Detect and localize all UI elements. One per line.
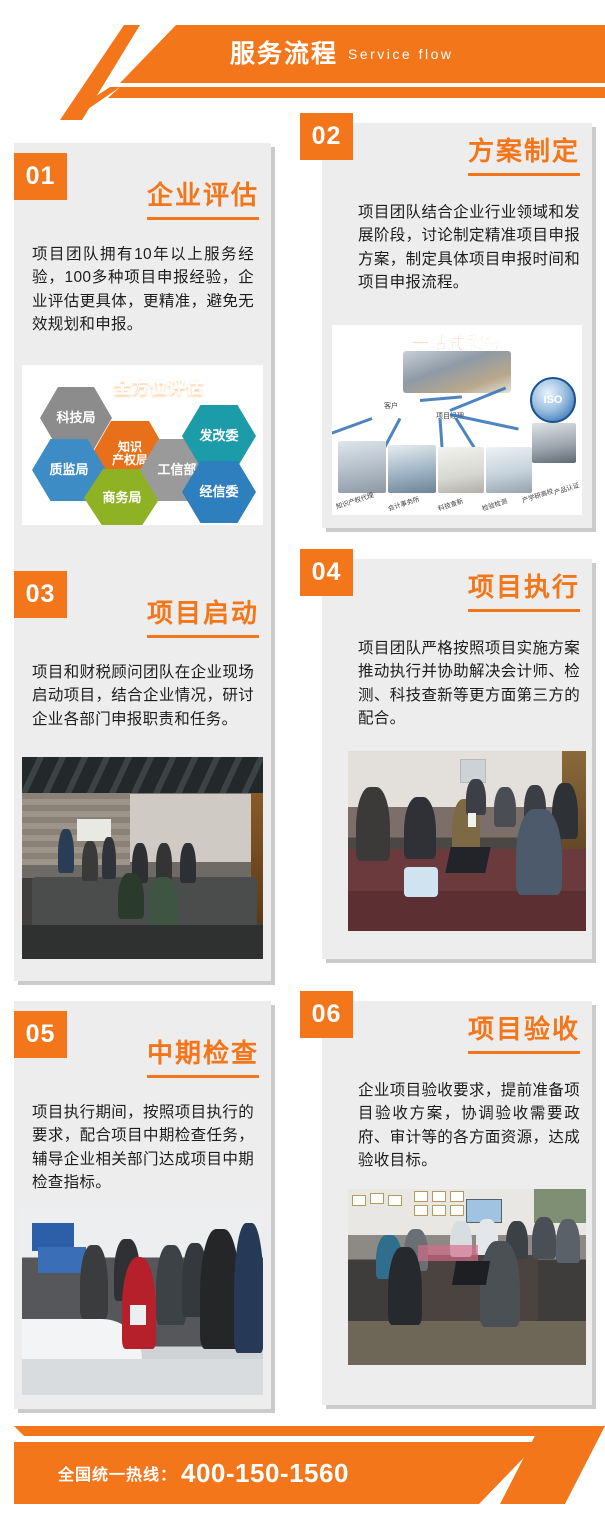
card-04-title: 项目执行 [468,567,580,612]
card-05-description: 项目执行期间，按照项目执行的要求，配合项目中期检查任务，辅导企业相关部门达成项目… [32,1101,254,1194]
thumb-accounting-firm [388,445,436,493]
thumb-inspection-testing [486,447,532,493]
thumb-tech-novelty-search [438,447,484,493]
card-03-number-badge: 03 [14,571,67,618]
arrow-hub-to-customer [420,395,462,402]
card-01-description: 项目团队拥有10年以上服务经验，100多种项目申报经验，企业评估更具体，更精准，… [32,243,254,336]
photo-05-detail-layer [22,1209,263,1395]
hotline-label: 全国统一热线： [58,1461,177,1485]
process-card-03[interactable]: 03 项目启动 项目和财税顾问团队在企业现场启动项目，结合企业情况，研讨企业各部… [14,561,279,986]
page-footer: 全国统一热线： 400-150-1560 [0,1410,605,1538]
header-banner-content: 服务流程 Service flow [120,25,605,83]
card-06-number-badge: 06 [300,991,353,1038]
hotline-phone-number[interactable]: 400-150-1560 [181,1458,349,1489]
service-label-5: 产品认证 [552,479,580,497]
process-card-04[interactable]: 04 项目执行 项目团队严格按照项目实施方案推动执行并协助解决会计师、检测、科技… [300,539,595,964]
process-card-05[interactable]: 05 中期检查 项目执行期间，按照项目执行的要求，配合项目中期检查任务，辅导企业… [14,1001,279,1413]
card-06-description: 企业项目验收要求，提前准备项目验收方案，协调验收需要政府、审计等的各方面资源，达… [358,1079,580,1172]
card-01-number-badge: 01 [14,153,67,200]
process-card-02[interactable]: 02 方案制定 项目团队结合企业行业领域和发展阶段，讨论制定精准项目申报方案，制… [300,103,595,528]
card-02-title: 方案制定 [468,131,580,176]
infographic-page: 服务流程 Service flow 01 企业评估 项目团队拥有10年以上服务经… [0,0,605,1538]
card-05-number-badge: 05 [14,1011,67,1058]
card-05-photo [22,1209,263,1395]
card-02-title-row: 方案制定 [322,131,580,176]
thumb-industry-university [532,423,576,463]
service-label-2: 科技查新 [436,495,464,513]
card-06-photo [348,1189,586,1365]
thumb-ip-agency [338,441,386,493]
card-04-title-row: 项目执行 [322,567,580,612]
page-title: 服务流程 [230,42,338,67]
node-customer-label: 客户 [384,401,398,411]
page-subtitle: Service flow [348,47,453,62]
card-06-title: 项目验收 [468,1009,580,1054]
footer-hotline[interactable]: 全国统一热线： 400-150-1560 [58,1442,349,1504]
card-01-title: 企业评估 [147,175,259,220]
process-card-grid: 01 企业评估 项目团队拥有10年以上服务经验，100多种项目申报经验，企业评估… [0,103,605,1413]
card-06-title-row: 项目验收 [322,1009,580,1054]
card-02-figure-one-stop-service: 一站式服务 客户 项目经理 ISO 知识产权代理 会计事务所 [332,325,582,515]
photo-06-detail-layer [348,1189,586,1365]
card-04-number-badge: 04 [300,549,353,596]
photo-04-detail-layer [348,751,586,931]
process-card-06[interactable]: 06 项目验收 企业项目验收要求，提前准备项目验收方案，协调验收需要政府、审计等… [300,987,595,1412]
card-04-description: 项目团队严格按照项目实施方案推动执行并协助解决会计师、检测、科技查新等更方面第三… [358,637,580,730]
card-02-number-badge: 02 [300,113,353,160]
card-01-figure-hex-diagram: 全方位评估 科技局 知识产权局 质监局 商务局 工信部 发改委 经信委 [22,365,263,525]
photo-03-detail-layer [22,757,263,959]
card-03-title: 项目启动 [147,593,259,638]
process-card-01[interactable]: 01 企业评估 项目团队拥有10年以上服务经验，100多种项目申报经验，企业评估… [14,143,279,568]
arrow-hub-to-left [332,417,373,442]
card-03-description: 项目和财税顾问团队在企业现场启动项目，结合企业情况，研讨企业各部门申报职责和任务… [32,661,254,731]
card-03-photo [22,757,263,959]
card-05-title: 中期检查 [147,1033,259,1078]
certification-seal-icon: ISO [530,377,576,423]
card-04-photo [348,751,586,931]
page-header: 服务流程 Service flow [0,0,605,120]
service-label-1: 会计事务所 [386,493,420,513]
header-stripe [108,87,605,98]
footer-stripe [14,1426,589,1436]
one-stop-service-hub-photo [403,351,511,393]
service-label-3: 检验检测 [480,495,508,513]
card-02-description: 项目团队结合企业行业领域和发展阶段，讨论制定精准项目申报方案，制定具体项目申报时… [358,201,580,294]
hex-diagram-title: 全方位评估 [114,373,204,398]
